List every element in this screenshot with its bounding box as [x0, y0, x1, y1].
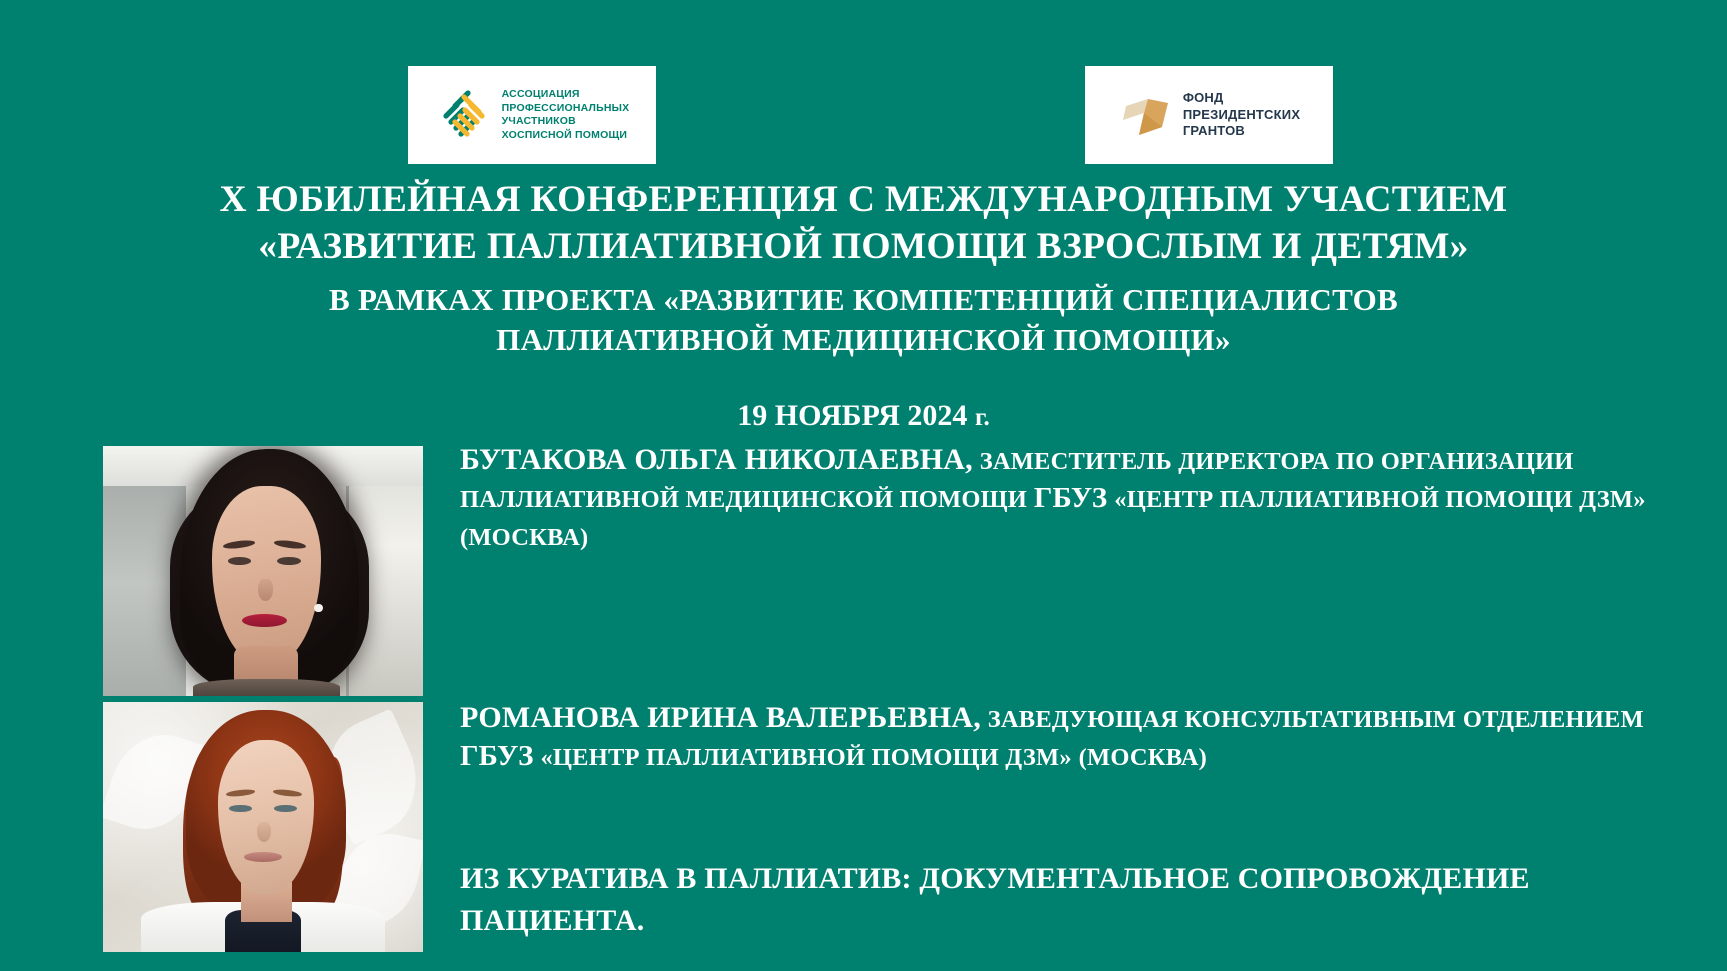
photo-2-eye-right [274, 805, 296, 813]
association-logo-line-3: УЧАСТНИКОВ [502, 115, 576, 127]
speaker-2-org-name: «ЦЕНТР ПАЛЛИАТИВНОЙ ПОМОЩИ ДЗМ» [540, 744, 1071, 771]
presidential-grants-ribbon-icon [1118, 87, 1174, 143]
association-logo-line-1: АССОЦИАЦИЯ [502, 88, 580, 100]
association-logo-card: АССОЦИАЦИЯ ПРОФЕССИОНАЛЬНЫХ УЧАСТНИКОВ Х… [408, 66, 656, 164]
speaker-2-org-abbr: ГБУЗ [460, 740, 534, 772]
speaker-2-name: РОМАНОВА ИРИНА ВАЛЕРЬЕВНА, [460, 701, 981, 734]
conference-subtitle: В РАМКАХ ПРОЕКТА «РАЗВИТИЕ КОМПЕТЕНЦИЙ С… [0, 280, 1727, 360]
conference-date-suffix: г. [975, 404, 990, 431]
speaker-1-city: (МОСКВА) [460, 524, 588, 551]
logo-bar: АССОЦИАЦИЯ ПРОФЕССИОНАЛЬНЫХ УЧАСТНИКОВ Х… [0, 66, 1727, 164]
speaker-1-role-part-1: ЗАМЕСТИТЕЛЬ ДИРЕКТОРА ПО ОРГАНИЗАЦИИ [980, 448, 1574, 475]
talk-title-line-1: ИЗ КУРАТИВА В ПАЛЛИАТИВ: ДОКУМЕНТАЛЬНОЕ … [460, 858, 1670, 900]
association-logo-line-4: ХОСПИСНОЙ ПОМОЩИ [502, 129, 627, 141]
association-handshake-icon [435, 86, 493, 144]
conference-date: 19 НОЯБРЯ 2024 г. [0, 398, 1727, 436]
speaker-block-2: РОМАНОВА ИРИНА ВАЛЕРЬЕВНА, ЗАВЕДУЮЩАЯ КО… [460, 700, 1660, 776]
photo-2-nose [257, 822, 271, 842]
speaker-1-role-part-2: ПАЛЛИАТИВНОЙ МЕДИЦИНСКОЙ ПОМОЩИ [460, 486, 1027, 513]
photo-2-eye-left [229, 805, 251, 813]
speaker-1-name: БУТАКОВА ОЛЬГА НИКОЛАЕВНА, [460, 443, 973, 476]
speaker-2-role-part-2: ОТДЕЛЕНИЕМ [1463, 706, 1644, 733]
photo-1-collar [193, 679, 340, 697]
photo-2-lips [244, 852, 282, 862]
grants-logo-line-1: ФОНД [1183, 90, 1224, 105]
association-logo-text: АССОЦИАЦИЯ ПРОФЕССИОНАЛЬНЫХ УЧАСТНИКОВ Х… [502, 88, 630, 142]
conference-slide: АССОЦИАЦИЯ ПРОФЕССИОНАЛЬНЫХ УЧАСТНИКОВ Х… [0, 0, 1727, 971]
speaker-2-role-part-1: ЗАВЕДУЮЩАЯ КОНСУЛЬТАТИВНЫМ [988, 706, 1456, 733]
grants-logo-line-3: ГРАНТОВ [1183, 123, 1245, 138]
grants-logo-line-2: ПРЕЗИДЕНТСКИХ [1183, 107, 1300, 122]
speaker-2-city: (МОСКВА) [1079, 744, 1207, 771]
association-logo-line-2: ПРОФЕССИОНАЛЬНЫХ [502, 102, 630, 114]
speaker-2-text: РОМАНОВА ИРИНА ВАЛЕРЬЕВНА, ЗАВЕДУЮЩАЯ КО… [460, 700, 1660, 776]
conference-subtitle-line-2: ПАЛЛИАТИВНОЙ МЕДИЦИНСКОЙ ПОМОЩИ» [0, 320, 1727, 360]
photo-1-earring [314, 604, 322, 613]
speaker-photo-1 [103, 446, 423, 696]
speaker-1-org-abbr: ГБУЗ [1034, 482, 1108, 514]
conference-date-value: 19 НОЯБРЯ 2024 [737, 399, 967, 432]
conference-title: X ЮБИЛЕЙНАЯ КОНФЕРЕНЦИЯ С МЕЖДУНАРОДНЫМ … [0, 176, 1727, 270]
presidential-grants-logo-text: ФОНД ПРЕЗИДЕНТСКИХ ГРАНТОВ [1183, 90, 1300, 140]
talk-title: ИЗ КУРАТИВА В ПАЛЛИАТИВ: ДОКУМЕНТАЛЬНОЕ … [460, 858, 1670, 942]
conference-title-line-1: X ЮБИЛЕЙНАЯ КОНФЕРЕНЦИЯ С МЕЖДУНАРОДНЫМ … [0, 176, 1727, 223]
presidential-grants-logo-card: ФОНД ПРЕЗИДЕНТСКИХ ГРАНТОВ [1085, 66, 1333, 164]
conference-title-line-2: «РАЗВИТИЕ ПАЛЛИАТИВНОЙ ПОМОЩИ ВЗРОСЛЫМ И… [0, 223, 1727, 270]
photo-1-nose [258, 579, 272, 602]
talk-title-line-2: ПАЦИЕНТА. [460, 900, 1670, 942]
photo-1-lips [242, 614, 287, 627]
speaker-photo-2 [103, 702, 423, 952]
speaker-block-1: БУТАКОВА ОЛЬГА НИКОЛАЕВНА, ЗАМЕСТИТЕЛЬ Д… [460, 442, 1660, 556]
speaker-1-org-name: «ЦЕНТР ПАЛЛИАТИВНОЙ ПОМОЩИ ДЗМ» [1114, 486, 1645, 513]
conference-subtitle-line-1: В РАМКАХ ПРОЕКТА «РАЗВИТИЕ КОМПЕТЕНЦИЙ С… [0, 280, 1727, 320]
speaker-1-text: БУТАКОВА ОЛЬГА НИКОЛАЕВНА, ЗАМЕСТИТЕЛЬ Д… [460, 442, 1660, 556]
